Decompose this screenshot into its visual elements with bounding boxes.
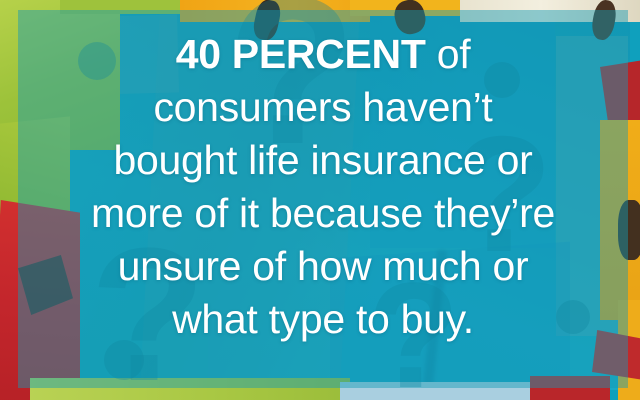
headline-rest: of xyxy=(426,31,471,77)
headline-rest: unsure of how much or xyxy=(118,243,529,289)
headline-block: 40 PERCENT of consumers haven’t bought l… xyxy=(18,10,628,388)
headline-rest: more of it because they’re xyxy=(91,190,555,236)
headline-line: unsure of how much or xyxy=(118,240,529,293)
infographic-card: ???? 40 PERCENT of consumers haven’t bou… xyxy=(0,0,640,400)
headline-line: bought life insurance or xyxy=(113,134,532,187)
headline-emphasis: 40 PERCENT xyxy=(176,31,426,77)
headline-line: what type to buy. xyxy=(172,293,474,346)
headline-rest: what type to buy. xyxy=(172,296,474,342)
headline-rest: bought life insurance or xyxy=(113,137,532,183)
headline-line: 40 PERCENT of xyxy=(176,28,471,81)
headline-rest: consumers haven’t xyxy=(153,84,492,130)
headline-line: consumers haven’t xyxy=(153,81,492,134)
headline-line: more of it because they’re xyxy=(91,187,555,240)
